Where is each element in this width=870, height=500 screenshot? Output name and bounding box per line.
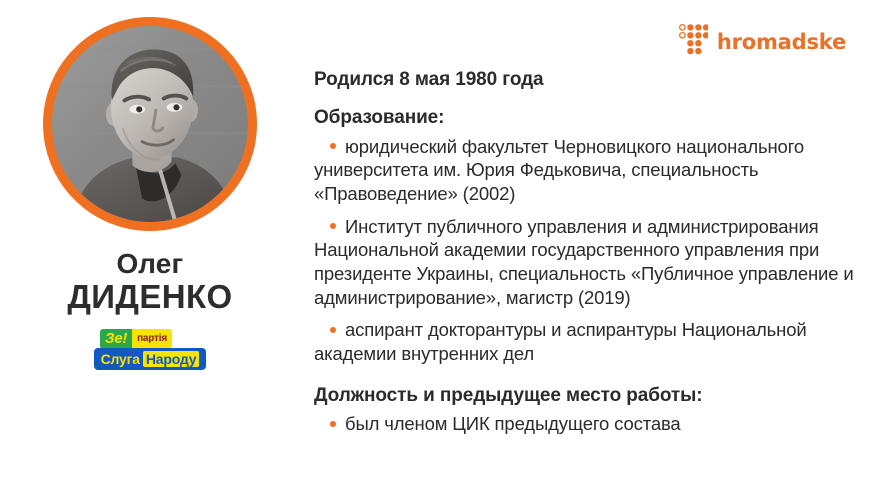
list-item: аспирант докторантуры и аспирантуры Наци… bbox=[314, 318, 854, 365]
list-item-text: был членом ЦИК предыдущего состава bbox=[345, 413, 681, 434]
avatar bbox=[43, 17, 257, 231]
party-badge-narodu: Народу bbox=[143, 351, 199, 367]
bullet-icon bbox=[330, 327, 336, 333]
list-item: Институт публичного управления и админис… bbox=[314, 215, 854, 310]
list-item: был членом ЦИК предыдущего состава bbox=[314, 412, 854, 436]
position-heading: Должность и предыдущее место работы: bbox=[314, 384, 854, 408]
brand-name: hromadske bbox=[717, 32, 846, 53]
portrait-photo bbox=[52, 26, 248, 222]
list-item-text: Институт публичного управления и админис… bbox=[314, 216, 854, 308]
party-badge-sluha: Слуга bbox=[101, 351, 140, 367]
slide-root: hromadske bbox=[0, 0, 870, 500]
bullet-icon bbox=[330, 143, 336, 149]
party-badge: Зе! партія Слуга Народу bbox=[94, 329, 206, 373]
birth-line: Родился 8 мая 1980 года bbox=[314, 68, 854, 92]
position-list: был членом ЦИК предыдущего состава bbox=[314, 412, 854, 436]
education-list: юридический факультет Черновицкого нацио… bbox=[314, 135, 854, 366]
list-item-text: юридический факультет Черновицкого нацио… bbox=[314, 136, 804, 204]
profile-column: Олег ДИДЕНКО Зе! партія Слуга Народу bbox=[0, 0, 300, 500]
person-name: Олег ДИДЕНКО bbox=[67, 250, 232, 313]
education-heading: Образование: bbox=[314, 106, 854, 130]
party-badge-top-row: Зе! партія bbox=[100, 329, 172, 349]
party-badge-ze: Зе! bbox=[100, 329, 132, 349]
brand-logo: hromadske bbox=[679, 24, 846, 60]
person-last-name: ДИДЕНКО bbox=[67, 280, 232, 314]
person-first-name: Олег bbox=[67, 250, 232, 279]
party-badge-partia: партія bbox=[132, 329, 172, 349]
list-item: юридический факультет Черновицкого нацио… bbox=[314, 135, 854, 206]
party-badge-bottom-row: Слуга Народу bbox=[94, 348, 206, 370]
bullet-icon bbox=[330, 223, 336, 229]
dot-grid-icon bbox=[679, 24, 708, 60]
bio-content: Родился 8 мая 1980 года Образование: юри… bbox=[314, 68, 854, 436]
list-item-text: аспирант докторантуры и аспирантуры Наци… bbox=[314, 319, 807, 364]
bullet-icon bbox=[330, 421, 336, 427]
